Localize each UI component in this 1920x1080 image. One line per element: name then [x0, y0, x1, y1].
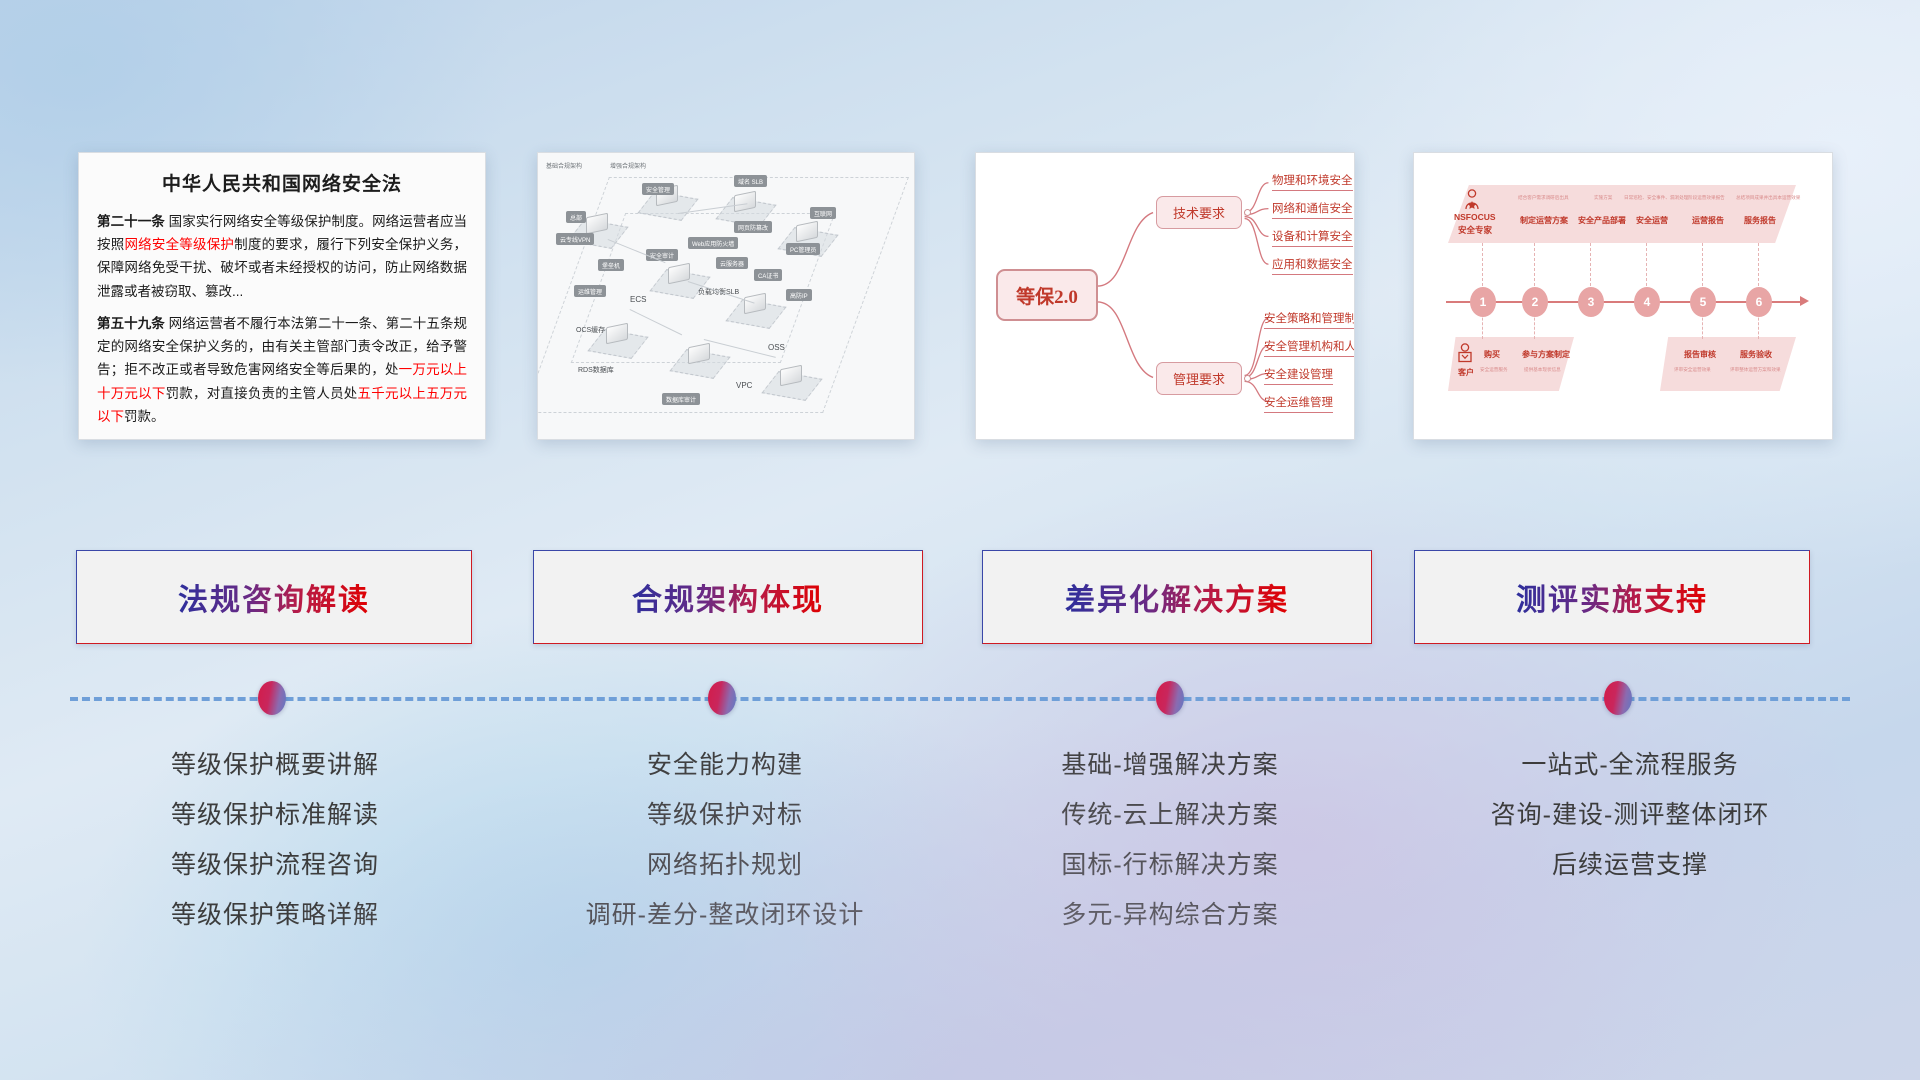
title-box-regulation-consulting[interactable]: 法规咨询解读	[76, 550, 472, 644]
timeline-dashed-line	[70, 697, 1850, 701]
nsfocus-top-sub-1: 结合客户需求调研后出具	[1518, 195, 1569, 201]
mindmap-branch-technical: 技术要求	[1156, 196, 1242, 229]
title-label-2: 合规架构体现	[632, 575, 824, 619]
mindmap-collapse-dot-management[interactable]	[1244, 375, 1251, 382]
feature-list-solution: 基础-增强解决方案 传统-云上解决方案 国标-行标解决方案 多元-异构综合方案	[955, 740, 1385, 940]
nsfocus-bottom-title-4: 服务验收	[1740, 349, 1772, 360]
arch-label-19: RDS数据库	[578, 365, 614, 375]
title-label-1: 法规咨询解读	[178, 575, 370, 619]
nsfocus-top-title-5: 服务报告	[1744, 215, 1776, 226]
list-item: 安全能力构建	[510, 740, 940, 790]
arch-label-14: ECS	[630, 295, 646, 304]
arch-label-10: 网页防篡改	[734, 221, 772, 233]
law-title: 中华人民共和国网络安全法	[97, 169, 467, 196]
card-nsfocus-service-flow: NSFOCUS 安全专家 结合客户需求调研后出具 制定运营方案 实施方案 安全产…	[1413, 152, 1833, 440]
list-item: 多元-异构综合方案	[955, 890, 1385, 940]
arch-label-16: OSS	[768, 343, 785, 352]
arch-label-8: Web应用防火墙	[688, 237, 738, 249]
mindmap-leaf-t3: 设备和计算安全	[1272, 228, 1353, 247]
arch-label-0: 总部	[566, 211, 586, 223]
timeline-dot-1[interactable]	[258, 681, 286, 715]
timeline-dot-2[interactable]	[708, 681, 736, 715]
nsfocus-top-sub-2: 实施方案	[1594, 195, 1612, 201]
list-item: 传统-云上解决方案	[955, 790, 1385, 840]
arch-label-2: 域名 SLB	[734, 175, 767, 187]
nsfocus-expert-role: 安全专家	[1458, 224, 1492, 236]
list-item: 等级保护概要讲解	[60, 740, 490, 790]
law-article-59-text-b: 罚款，对直接负责的主管人员处	[166, 386, 358, 401]
law-article-21-label: 第二十一条	[97, 214, 165, 229]
title-box-compliance-architecture[interactable]: 合规架构体现	[533, 550, 923, 644]
card-mindmap-dengbao: 等保2.0 技术要求 管理要求 物理和环境安全 网络和通信安全 设备和计算安全 …	[975, 152, 1355, 440]
nsfocus-bottom-title-1: 购买	[1484, 349, 1500, 360]
nsfocus-step-node-4: 4	[1634, 287, 1660, 317]
nsfocus-bottom-band-right	[1660, 337, 1796, 391]
list-item: 调研-差分-整改闭环设计	[510, 890, 940, 940]
nsfocus-bottom-sub-2: 提供基本现状信息	[1524, 367, 1561, 373]
law-article-21-highlight: 网络安全等级保护	[124, 237, 234, 252]
card-compliance-architecture: 基础合规架构 增强合规架构	[537, 152, 915, 440]
nsfocus-tick-1	[1482, 243, 1483, 291]
nsfocus-tick-6	[1758, 243, 1759, 291]
nsfocus-top-band	[1448, 185, 1796, 243]
nsfocus-step-node-2: 2	[1522, 287, 1548, 317]
arch-label-7: 运维管理	[574, 285, 606, 297]
law-document: 中华人民共和国网络安全法 第二十一条 国家实行网络安全等级保护制度。网络运营者应…	[79, 153, 485, 438]
nsfocus-tick-3	[1590, 243, 1591, 291]
law-article-21: 第二十一条 国家实行网络安全等级保护制度。网络运营者应当按照网络安全等级保护制度…	[97, 210, 467, 303]
nsfocus-bottom-sub-4: 评审整体运营方案和效果	[1730, 367, 1781, 373]
nsfocus-tick-5	[1702, 243, 1703, 291]
arch-label-9: 云服务器	[716, 257, 748, 269]
arch-label-1: 安全管理	[642, 183, 674, 195]
nsfocus-customer-label: 客户	[1458, 367, 1474, 378]
nsfocus-bottom-sub-1: 安全运营服务	[1480, 367, 1508, 373]
title-box-evaluation-support[interactable]: 测评实施支持	[1414, 550, 1810, 644]
arch-label-5: 堡垒机	[598, 259, 624, 271]
arch-label-4: 云专线VPN	[556, 233, 594, 245]
nsfocus-tick-2	[1534, 243, 1535, 291]
list-item: 等级保护策略详解	[60, 890, 490, 940]
law-article-59: 第五十九条 网络运营者不履行本法第二十一条、第二十五条规定的网络安全保护义务的，…	[97, 312, 467, 428]
list-item: 国标-行标解决方案	[955, 840, 1385, 890]
list-item: 网络拓扑规划	[510, 840, 940, 890]
nsfocus-step-node-5: 5	[1690, 287, 1716, 317]
nsfocus-tick-4	[1646, 243, 1647, 291]
arch-label-3: 互联网	[810, 207, 836, 219]
arch-label-6: 安全审计	[646, 249, 678, 261]
nsfocus-top-title-3: 安全运营	[1636, 215, 1668, 226]
mindmap-collapse-dot-technical[interactable]	[1244, 209, 1251, 216]
title-label-4: 测评实施支持	[1516, 575, 1708, 619]
nsfocus-top-title-2: 安全产品部署	[1578, 215, 1626, 226]
title-box-row: 法规咨询解读 合规架构体现 差异化解决方案 测评实施支持	[0, 550, 1920, 650]
arch-label-18: OCS缓存	[576, 325, 605, 335]
timeline-dot-3[interactable]	[1156, 681, 1184, 715]
nsfocus-expert-brand: NSFOCUS	[1454, 212, 1496, 222]
arch-label-11: PC管理员	[786, 243, 820, 255]
architecture-diagram: 基础合规架构 增强合规架构	[538, 153, 914, 439]
card-cybersecurity-law: 中华人民共和国网络安全法 第二十一条 国家实行网络安全等级保护制度。网络运营者应…	[78, 152, 486, 440]
screenshot-card-row: 中华人民共和国网络安全法 第二十一条 国家实行网络安全等级保护制度。网络运营者应…	[0, 152, 1920, 442]
arch-label-20: 数据库审计	[662, 393, 700, 405]
nsfocus-timeline-arrow	[1800, 296, 1809, 306]
nsfocus-flow: NSFOCUS 安全专家 结合客户需求调研后出具 制定运营方案 实施方案 安全产…	[1414, 153, 1832, 439]
feature-list-architecture: 安全能力构建 等级保护对标 网络拓扑规划 调研-差分-整改闭环设计	[510, 740, 940, 940]
feature-list-regulation: 等级保护概要讲解 等级保护标准解读 等级保护流程咨询 等级保护策略详解	[60, 740, 490, 940]
nsfocus-top-sub-3: 日常巡检、安全事件、漏洞处理	[1624, 195, 1688, 201]
list-item: 基础-增强解决方案	[955, 740, 1385, 790]
mindmap-leaf-t1: 物理和环境安全	[1272, 172, 1353, 191]
feature-list-evaluation: 一站式-全流程服务 咨询-建设-测评整体闭环 后续运营支撑	[1400, 740, 1860, 890]
mindmap-leaf-m4: 安全运维管理	[1264, 394, 1333, 413]
list-item: 一站式-全流程服务	[1400, 740, 1860, 790]
nsfocus-top-sub-4: 阶段运营效果报告	[1688, 195, 1725, 201]
timeline-track	[70, 697, 1850, 701]
mindmap-branch-management: 管理要求	[1156, 362, 1242, 395]
title-label-3: 差异化解决方案	[1065, 575, 1289, 619]
list-item: 等级保护流程咨询	[60, 840, 490, 890]
slide-canvas: 中华人民共和国网络安全法 第二十一条 国家实行网络安全等级保护制度。网络运营者应…	[0, 0, 1920, 1080]
mindmap-leaf-t2: 网络和通信安全	[1272, 200, 1353, 219]
customer-avatar-icon	[1456, 343, 1474, 365]
nsfocus-top-title-1: 制定运营方案	[1520, 215, 1568, 226]
nsfocus-top-title-4: 运营报告	[1692, 215, 1724, 226]
mindmap-leaf-m3: 安全建设管理	[1264, 366, 1333, 385]
mindmap: 等保2.0 技术要求 管理要求 物理和环境安全 网络和通信安全 设备和计算安全 …	[976, 153, 1354, 439]
nsfocus-bottom-title-3: 报告审核	[1684, 349, 1716, 360]
list-item: 等级保护对标	[510, 790, 940, 840]
mindmap-leaf-m1: 安全策略和管理制度	[1264, 310, 1355, 329]
arch-label-12: CA证书	[754, 269, 782, 281]
nsfocus-step-node-1: 1	[1470, 287, 1496, 317]
list-item: 后续运营支撑	[1400, 840, 1860, 890]
law-article-59-label: 第五十九条	[97, 316, 165, 331]
mindmap-leaf-m2: 安全管理机构和人员	[1264, 338, 1355, 357]
arch-label-17: VPC	[736, 381, 752, 390]
expert-avatar-icon	[1462, 189, 1482, 211]
nsfocus-bottom-sub-3: 评审安全运营效果	[1674, 367, 1711, 373]
law-article-59-text-c: 罚款。	[124, 409, 165, 424]
timeline-dot-4[interactable]	[1604, 681, 1632, 715]
mindmap-leaf-t4: 应用和数据安全	[1272, 256, 1353, 275]
title-box-differentiated-solution[interactable]: 差异化解决方案	[982, 550, 1372, 644]
nsfocus-step-node-6: 6	[1746, 287, 1772, 317]
list-item: 等级保护标准解读	[60, 790, 490, 840]
nsfocus-top-sub-5: 总结项目成果并出具本运营效果	[1736, 195, 1800, 201]
nsfocus-bottom-title-2: 参与方案制定	[1522, 349, 1570, 360]
list-item: 咨询-建设-测评整体闭环	[1400, 790, 1860, 840]
nsfocus-step-node-3: 3	[1578, 287, 1604, 317]
mindmap-root-node: 等保2.0	[996, 269, 1098, 321]
arch-title-basic: 基础合规架构	[546, 161, 582, 170]
arch-title-enhanced: 增强合规架构	[610, 161, 646, 170]
arch-label-13: 高防IP	[786, 289, 812, 301]
